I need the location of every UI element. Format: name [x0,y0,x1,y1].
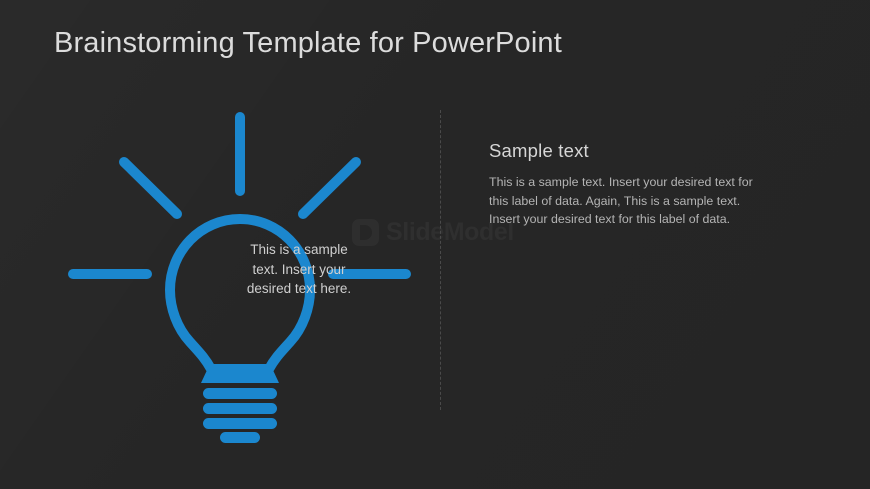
ray-upper-right-line [303,162,356,214]
base-collar [201,368,279,383]
text-panel: Sample text This is a sample text. Inser… [489,141,773,228]
ray-upper-left-line [124,162,177,214]
vertical-dashed-divider [440,110,441,410]
base-ring-2 [203,403,277,414]
bulb-base [201,368,279,429]
slide-canvas: SlideModel Brainstorming Template for Po… [0,0,870,489]
bulb-base-tip-graphic [55,430,425,452]
base-tip [220,432,260,443]
base-ring-1 [203,388,277,399]
panel-body-text: This is a sample text. Insert your desir… [489,173,773,228]
bulb-caption-text: This is a sample text. Insert your desir… [240,240,358,299]
base-ring-3 [203,418,277,429]
panel-heading: Sample text [489,141,773,161]
page-title: Brainstorming Template for PowerPoint [54,27,562,60]
lightbulb-diagram[interactable]: This is a sample text. Insert your desir… [55,100,425,430]
